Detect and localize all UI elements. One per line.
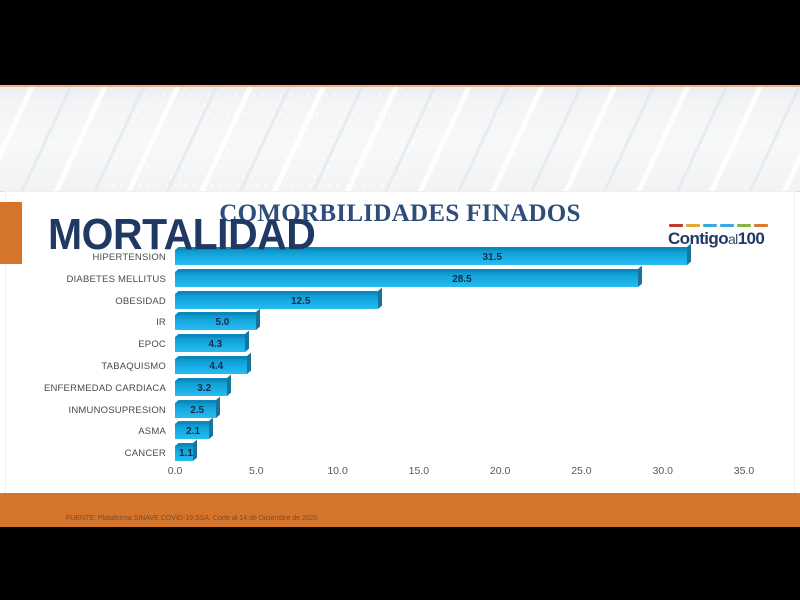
letterbox-bottom [0,527,800,600]
page-title: MORTALIDAD [48,209,315,261]
chart-x-axis: 0.05.010.015.020.025.030.035.0 [175,465,744,485]
chart-bar-value-label: 31.5 [483,250,502,265]
header-dot-texture [97,91,444,191]
chart-bar-row: ASMA2.1 [175,421,744,443]
logo-word-contigo: Contigo [668,229,728,248]
chart-bar-row: OBESIDAD12.5 [175,291,744,313]
chart-category-label: DIABETES MELLITUS [67,271,166,288]
title-accent-block [0,202,22,264]
presentation-slide: MORTALIDAD Contigoal100 COMORBILIDADES F… [0,85,800,527]
chart-x-tick-label: 10.0 [327,465,347,477]
chart-bar-value-label: 1.1 [179,446,193,461]
chart-bar-value-label: 28.5 [452,272,471,287]
screenshot-root: MORTALIDAD Contigoal100 COMORBILIDADES F… [0,0,800,600]
logo-word-al: al [728,231,738,247]
chart-bar [175,272,638,287]
chart-category-label: IR [156,314,166,331]
chart-category-label: TABAQUISMO [101,358,166,375]
chart-source-footnote: FUENTE: Plataforma SINAVE COVID-19 SSA. … [66,515,318,522]
slide-header [0,87,800,192]
chart-bar-value-label: 3.2 [197,381,211,396]
logo-wordmark: Contigoal100 [668,229,768,249]
chart-category-label: ASMA [138,423,166,440]
chart-category-label: INMUNOSUPRESION [69,402,166,419]
chart-bar-row: IR5.0 [175,312,744,334]
chart-x-tick-label: 20.0 [490,465,510,477]
chart-category-label: ENFERMEDAD CARDIACA [44,380,166,397]
chart-bar-row: INMUNOSUPRESION2.5 [175,400,744,422]
brand-logo: Contigoal100 [668,224,768,249]
logo-dash-3 [703,224,717,227]
chart-bar [175,294,378,309]
chart-bar-row: CANCER1.1 [175,443,744,465]
logo-color-dashes [668,224,768,227]
chart-x-tick-label: 30.0 [652,465,672,477]
chart-bar-value-label: 5.0 [215,315,229,330]
chart-category-label: CANCER [125,445,166,462]
header-diagonal-stripes [0,87,800,192]
chart-bar-value-label: 12.5 [291,294,310,309]
logo-word-100: 100 [738,229,765,248]
letterbox-top [0,0,800,85]
chart-bar-value-label: 4.3 [208,337,222,352]
chart-category-label: EPOC [138,336,166,353]
logo-dash-6 [754,224,768,227]
chart-x-tick-label: 5.0 [249,465,264,477]
logo-dash-5 [737,224,751,227]
chart-plot-area: HIPERTENSION31.5DIABETES MELLITUS28.5OBE… [175,247,744,465]
chart-bar-row: EPOC4.3 [175,334,744,356]
chart-x-tick-label: 35.0 [734,465,754,477]
chart-bar-row: ENFERMEDAD CARDIACA3.2 [175,378,744,400]
logo-dash-2 [686,224,700,227]
chart-bar-value-label: 4.4 [209,359,223,374]
chart-x-tick-label: 15.0 [409,465,429,477]
chart-bar-value-label: 2.1 [186,424,200,439]
logo-dash-4 [720,224,734,227]
chart-category-label: OBESIDAD [115,293,166,310]
chart-x-tick-label: 0.0 [168,465,183,477]
chart-bar-row: TABAQUISMO4.4 [175,356,744,378]
chart-x-tick-label: 25.0 [571,465,591,477]
chart-bar-value-label: 2.5 [190,403,204,418]
chart-bar-row: DIABETES MELLITUS28.5 [175,269,744,291]
logo-dash-1 [669,224,683,227]
